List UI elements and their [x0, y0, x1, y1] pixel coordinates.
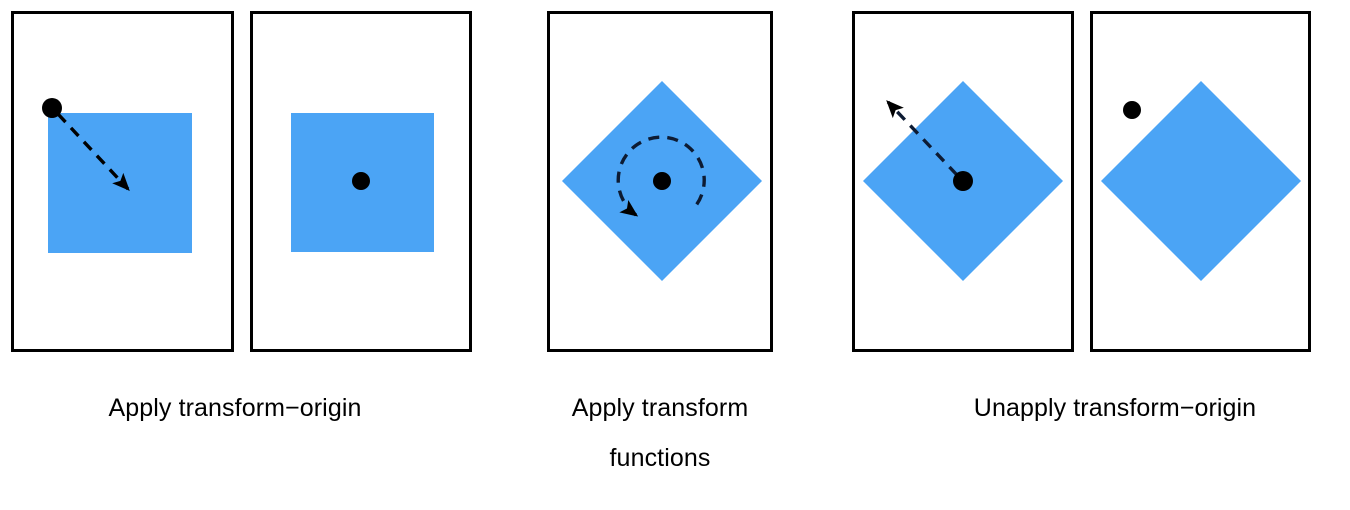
panel-2-origin-centered: [250, 11, 472, 352]
caption-apply-transform-origin: Apply transform−origin: [70, 383, 400, 433]
panel-1-origin-marked: [11, 11, 234, 352]
panel-5-unapply-end: [1090, 11, 1311, 352]
caption-line-1: Apply transform: [545, 383, 775, 433]
caption-line-2: functions: [545, 433, 775, 483]
caption-apply-transform-functions: Apply transform functions: [545, 383, 775, 483]
caption-unapply-transform-origin: Unapply transform−origin: [930, 383, 1300, 433]
diagram-canvas: Apply transform−origin Apply transform f…: [0, 0, 1350, 510]
caption-line: Apply transform−origin: [70, 383, 400, 433]
panel-3-rotated: [547, 11, 773, 352]
caption-line: Unapply transform−origin: [930, 383, 1300, 433]
panel-4-unapply-start: [852, 11, 1074, 352]
